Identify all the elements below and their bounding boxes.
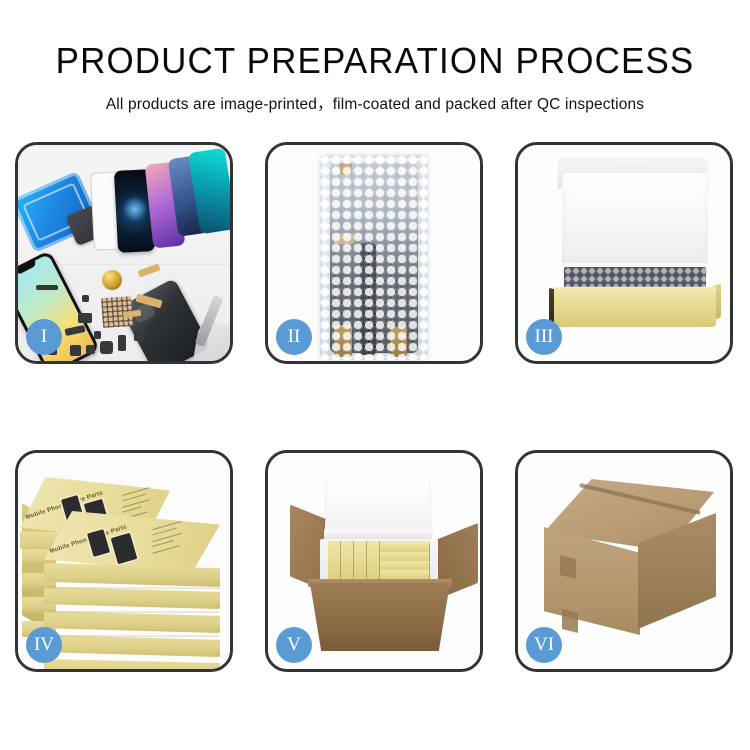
yellow-boxes-stack-icon [328, 541, 430, 579]
white-foam-icon [562, 173, 708, 273]
step-badge-4: IV [26, 627, 62, 663]
kraft-box-front-icon [554, 291, 716, 327]
product-preparation-infographic: PRODUCT PREPARATION PROCESS All products… [0, 0, 750, 750]
camera-ring-icon [102, 270, 122, 290]
page-title: PRODUCT PREPARATION PROCESS [11, 42, 739, 80]
header: PRODUCT PREPARATION PROCESS All products… [0, 0, 750, 114]
process-step-1: I [15, 142, 233, 364]
process-grid: I II [15, 142, 735, 672]
step-badge-2: II [276, 319, 312, 355]
bubble-texture [320, 155, 428, 360]
carton-front-icon [310, 583, 450, 651]
step-badge-1: I [26, 319, 62, 355]
process-step-4: Mobile Phone Spare Parts Mobile Phone Sp… [15, 450, 233, 672]
styrofoam-lid-icon [324, 477, 431, 536]
page-subtitle: All products are image-printed，film-coat… [0, 92, 750, 114]
carton-tape-top-icon [560, 555, 576, 579]
process-step-2: II [265, 142, 483, 364]
carton-tape-bottom-icon [562, 609, 578, 633]
process-step-6: VI [515, 450, 733, 672]
step-badge-6: VI [526, 627, 562, 663]
step-badge-3: III [526, 319, 562, 355]
process-step-3: III [515, 142, 733, 364]
process-step-5: V [265, 450, 483, 672]
step-badge-5: V [276, 627, 312, 663]
